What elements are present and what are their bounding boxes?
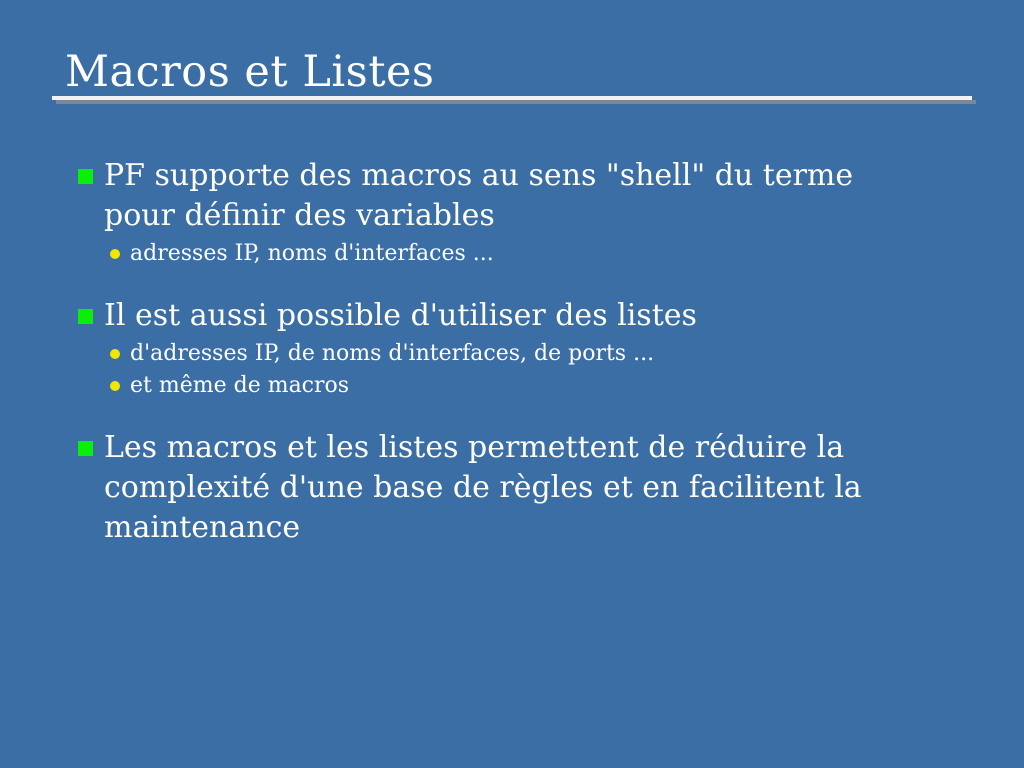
bullet-level2-text: et même de macros xyxy=(130,373,349,398)
bullet-block: Il est aussi possible d'utiliser des lis… xyxy=(78,296,958,402)
bullet-level2-row: adresses IP, noms d'interfaces ... xyxy=(78,238,930,270)
bullet-level1-text: PF supporte des macros au sens "shell" d… xyxy=(104,158,853,233)
slide: Macros et Listes PF supporte des macros … xyxy=(0,0,1024,768)
dot-bullet-icon xyxy=(110,349,120,359)
title-block: Macros et Listes xyxy=(52,46,982,98)
bullet-block: PF supporte des macros au sens "shell" d… xyxy=(78,156,958,270)
bullet-level2-text: d'adresses IP, de noms d'interfaces, de … xyxy=(130,341,654,366)
bullet-level1-row: PF supporte des macros au sens "shell" d… xyxy=(78,156,904,236)
bullet-level2-row: d'adresses IP, de noms d'interfaces, de … xyxy=(78,338,930,370)
square-bullet-icon xyxy=(78,441,93,456)
bullet-level1-row: Il est aussi possible d'utiliser des lis… xyxy=(78,296,904,336)
bullet-level1-item: Les macros et les listes permettent de r… xyxy=(78,428,958,548)
bullet-block: Les macros et les listes permettent de r… xyxy=(78,428,958,548)
bullet-level1-item: PF supporte des macros au sens "shell" d… xyxy=(78,156,958,236)
page-title: Macros et Listes xyxy=(52,46,982,98)
bullet-level1-text: Les macros et les listes permettent de r… xyxy=(104,430,862,545)
bullet-level2-text: adresses IP, noms d'interfaces ... xyxy=(130,241,494,266)
bullet-level1-text: Il est aussi possible d'utiliser des lis… xyxy=(104,298,697,333)
bullet-level1-item: Il est aussi possible d'utiliser des lis… xyxy=(78,296,958,336)
bullet-level2-row: et même de macros xyxy=(78,370,930,402)
dot-bullet-icon xyxy=(110,249,120,259)
content-body: PF supporte des macros au sens "shell" d… xyxy=(78,156,958,548)
bullet-level1-row: Les macros et les listes permettent de r… xyxy=(78,428,904,548)
square-bullet-icon xyxy=(78,309,93,324)
title-underline-shadow xyxy=(56,100,976,104)
dot-bullet-icon xyxy=(110,381,120,391)
square-bullet-icon xyxy=(78,169,93,184)
